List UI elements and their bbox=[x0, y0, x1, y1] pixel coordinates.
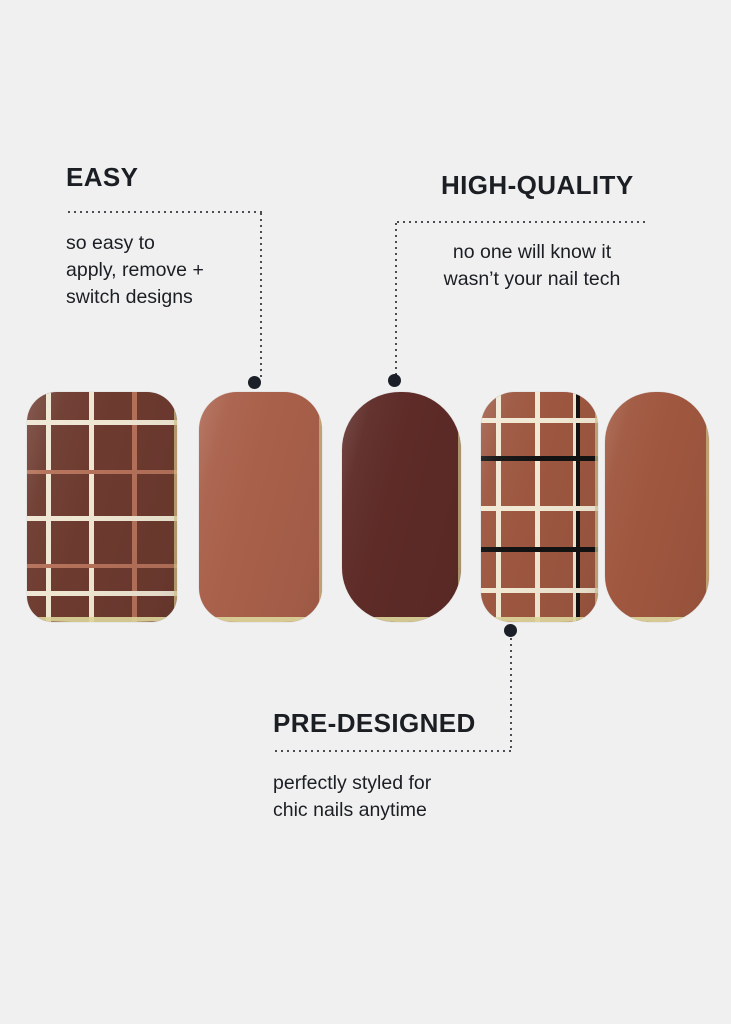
feature-body-easy: so easy to apply, remove + switch design… bbox=[66, 230, 296, 311]
nail-strip-4-base bbox=[481, 392, 598, 622]
nail-strip-3[interactable] bbox=[342, 392, 461, 622]
feature-heading-easy: EASY bbox=[66, 162, 138, 193]
connector-dot-high-quality bbox=[388, 374, 401, 387]
nail-strip-4-right-edge bbox=[595, 410, 598, 608]
connector-line-high-quality-vertical bbox=[395, 221, 397, 378]
connector-dot-easy bbox=[248, 376, 261, 389]
connector-line-high-quality-horizontal bbox=[395, 221, 647, 223]
nail-strip-2-bottom-edge bbox=[204, 617, 317, 622]
nail-strip-3-base bbox=[342, 392, 461, 622]
nail-strip-1-bottom-edge bbox=[33, 617, 171, 622]
nail-strip-5-bottom-edge bbox=[609, 617, 705, 622]
connector-line-easy-horizontal bbox=[66, 211, 262, 213]
nail-strip-1-right-edge bbox=[174, 410, 177, 608]
feature-body-high-quality: no one will know it wasn’t your nail tec… bbox=[415, 239, 649, 293]
nail-strip-2[interactable] bbox=[199, 392, 322, 622]
nail-strip-1-base bbox=[27, 392, 177, 622]
nail-strip-5-base bbox=[605, 392, 709, 622]
nail-strip-5[interactable] bbox=[605, 392, 709, 622]
feature-heading-high-quality: HIGH-QUALITY bbox=[441, 170, 634, 201]
connector-line-pre-designed-horizontal bbox=[273, 750, 512, 752]
nail-wrap-feature-graphic: EASY so easy to apply, remove + switch d… bbox=[0, 0, 731, 1024]
nail-strip-4-bottom-edge bbox=[486, 617, 594, 622]
nail-strip-2-base bbox=[199, 392, 322, 622]
nail-strip-1[interactable] bbox=[27, 392, 177, 622]
feature-heading-pre-designed: PRE-DESIGNED bbox=[273, 708, 476, 739]
nail-strip-4[interactable] bbox=[481, 392, 598, 622]
nail-strip-3-right-edge bbox=[458, 410, 461, 608]
nail-strip-5-right-edge bbox=[706, 410, 709, 608]
feature-body-pre-designed: perfectly styled for chic nails anytime bbox=[273, 770, 523, 824]
nail-strip-2-right-edge bbox=[319, 410, 322, 608]
connector-line-pre-designed-vertical bbox=[510, 636, 512, 752]
nail-strip-3-bottom-edge bbox=[347, 617, 457, 622]
